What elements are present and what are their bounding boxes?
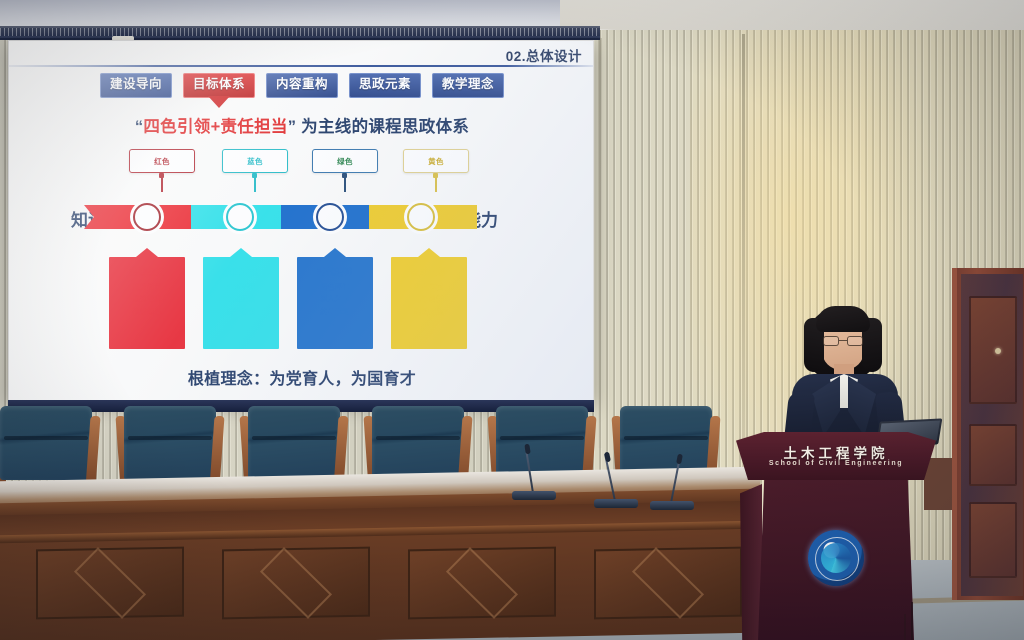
card-item: 以人为本 — [320, 296, 349, 303]
chip-red: 红色 — [129, 149, 195, 173]
card-dots: · · · — [325, 322, 346, 329]
card-title: 改革创新 — [411, 266, 447, 278]
slide-header-rule — [9, 65, 594, 67]
card-patriotism: 爱国主义 热爱祖国 热爱专业 热爱自己 · · · — [109, 257, 185, 349]
door-panel-top — [969, 296, 1017, 404]
chip-dot-green — [342, 173, 347, 178]
ribbon-ring-blue — [313, 200, 347, 234]
door-knob-icon[interactable] — [995, 348, 1001, 354]
card-item: 绿色环保 — [320, 284, 349, 291]
chair-back — [0, 406, 92, 480]
chip-dot-blue — [252, 173, 257, 178]
conference-table — [0, 474, 760, 640]
card-item: 热爱专业 — [132, 296, 161, 303]
tab-mubiaotixi[interactable]: 目标体系 — [183, 73, 255, 98]
door-panel-middle — [969, 424, 1017, 486]
screen-valance — [0, 26, 600, 40]
card-title: 时代精神 — [317, 266, 353, 278]
chair-back — [124, 406, 216, 480]
card-dots: · · · — [231, 322, 252, 329]
tab-neirongchonggou[interactable]: 内容重构 — [266, 73, 338, 98]
chair-back — [248, 406, 340, 480]
mic-capsule — [524, 444, 531, 455]
conference-microphone[interactable] — [594, 450, 638, 508]
card-item: 一丝不苟 — [226, 284, 255, 291]
color-chip-row: 红色 蓝色 绿色 黄色 — [9, 149, 594, 183]
ribbon-ring-yellow — [404, 200, 438, 234]
tab-sizhengyuansu[interactable]: 思政元素 — [349, 73, 421, 98]
ribbon-ring-cyan — [223, 200, 257, 234]
card-item: 精耕土建 — [414, 309, 443, 316]
mic-base — [512, 491, 556, 500]
ribbon-ring-red — [130, 200, 164, 234]
lectern-side-panel — [740, 484, 762, 640]
lectern: 土木工程学院 School of Civil Engineering — [736, 432, 936, 640]
card-item: 勇于探索 — [226, 309, 255, 316]
conference-microphone[interactable] — [650, 452, 694, 510]
chip-dot-yellow — [433, 173, 438, 178]
tab-jianshedaoxiang[interactable]: 建设导向 — [100, 73, 172, 98]
projection-screen: 02.总体设计 建设导向 目标体系 内容重构 思政元素 教学理念 “四色引领+责… — [8, 40, 594, 402]
presenter-hair-fringe — [816, 306, 870, 332]
card-dots: · · · — [137, 322, 158, 329]
card-item: 求真务实 — [226, 296, 255, 303]
chair-back — [372, 406, 464, 480]
card-item: 热爱祖国 — [132, 284, 161, 291]
wall-corner-left — [598, 38, 602, 448]
university-crest-icon — [808, 530, 864, 586]
ribbon-arrow-head — [84, 205, 110, 229]
lectern-name-en: School of Civil Engineering — [736, 460, 936, 467]
chip-yellow: 黄色 — [403, 149, 469, 173]
card-item: 热爱自己 — [132, 309, 161, 316]
tab-jiaoxuelinian[interactable]: 教学理念 — [432, 73, 504, 98]
chip-blue: 蓝色 — [222, 149, 288, 173]
door-frame — [952, 268, 1024, 600]
glasses-icon — [822, 336, 864, 346]
card-truth-seeking: 求真求实 一丝不苟 求真务实 勇于探索 · · · — [203, 257, 279, 349]
chip-dot-red — [159, 173, 164, 178]
conference-microphone[interactable] — [512, 442, 556, 500]
headline-highlight: 四色引领+责任担当 — [143, 118, 287, 136]
mic-capsule — [604, 452, 611, 463]
card-era-spirit: 时代精神 绿色环保 以人为本 终身学习 · · · — [297, 257, 373, 349]
chip-green: 绿色 — [312, 149, 378, 173]
card-title: 求真求实 — [223, 266, 259, 278]
slide-headline: “四色引领+责任担当” 为主线的课程思政体系 — [9, 113, 594, 137]
lectern-name-cn: 土木工程学院 — [736, 442, 936, 462]
power-cable — [904, 614, 1000, 640]
table-diamond-panel — [408, 547, 556, 620]
mic-capsule — [676, 454, 683, 465]
card-item: 勇于创新 — [414, 296, 443, 303]
table-diamond-panel — [36, 547, 184, 620]
card-item: 终身学习 — [320, 309, 349, 316]
mic-base — [650, 501, 694, 510]
card-dots: · · · — [419, 322, 440, 329]
mic-base — [594, 499, 638, 508]
conference-room-scene: 02.总体设计 建设导向 目标体系 内容重构 思政元素 教学理念 “四色引领+责… — [0, 0, 1024, 640]
value-card-row: 爱国主义 热爱祖国 热爱专业 热爱自己 · · · 求真求实 一丝不苟 求真务实… — [9, 245, 594, 355]
headline-quote-close: ” — [288, 118, 297, 136]
headline-rest: 为主线的课程思政体系 — [296, 118, 469, 136]
slide-tab-bar: 建设导向 目标体系 内容重构 思政元素 教学理念 — [9, 73, 594, 98]
door-panel-bottom — [969, 502, 1017, 578]
card-item: 科教强国 — [414, 284, 443, 291]
four-color-ribbon — [9, 199, 594, 235]
table-diamond-panel — [222, 547, 370, 620]
table-diamond-panel — [594, 547, 742, 620]
slide-footnote: 根植理念：为党育人，为国育才 — [9, 365, 594, 389]
presentation-slide: 02.总体设计 建设导向 目标体系 内容重构 思政元素 教学理念 “四色引领+责… — [9, 41, 593, 401]
slide-section-label: 02.总体设计 — [506, 45, 582, 65]
card-title: 爱国主义 — [129, 266, 165, 278]
door-leaf[interactable] — [961, 274, 1023, 596]
card-reform-innovation: 改革创新 科教强国 勇于创新 精耕土建 · · · — [391, 257, 467, 349]
